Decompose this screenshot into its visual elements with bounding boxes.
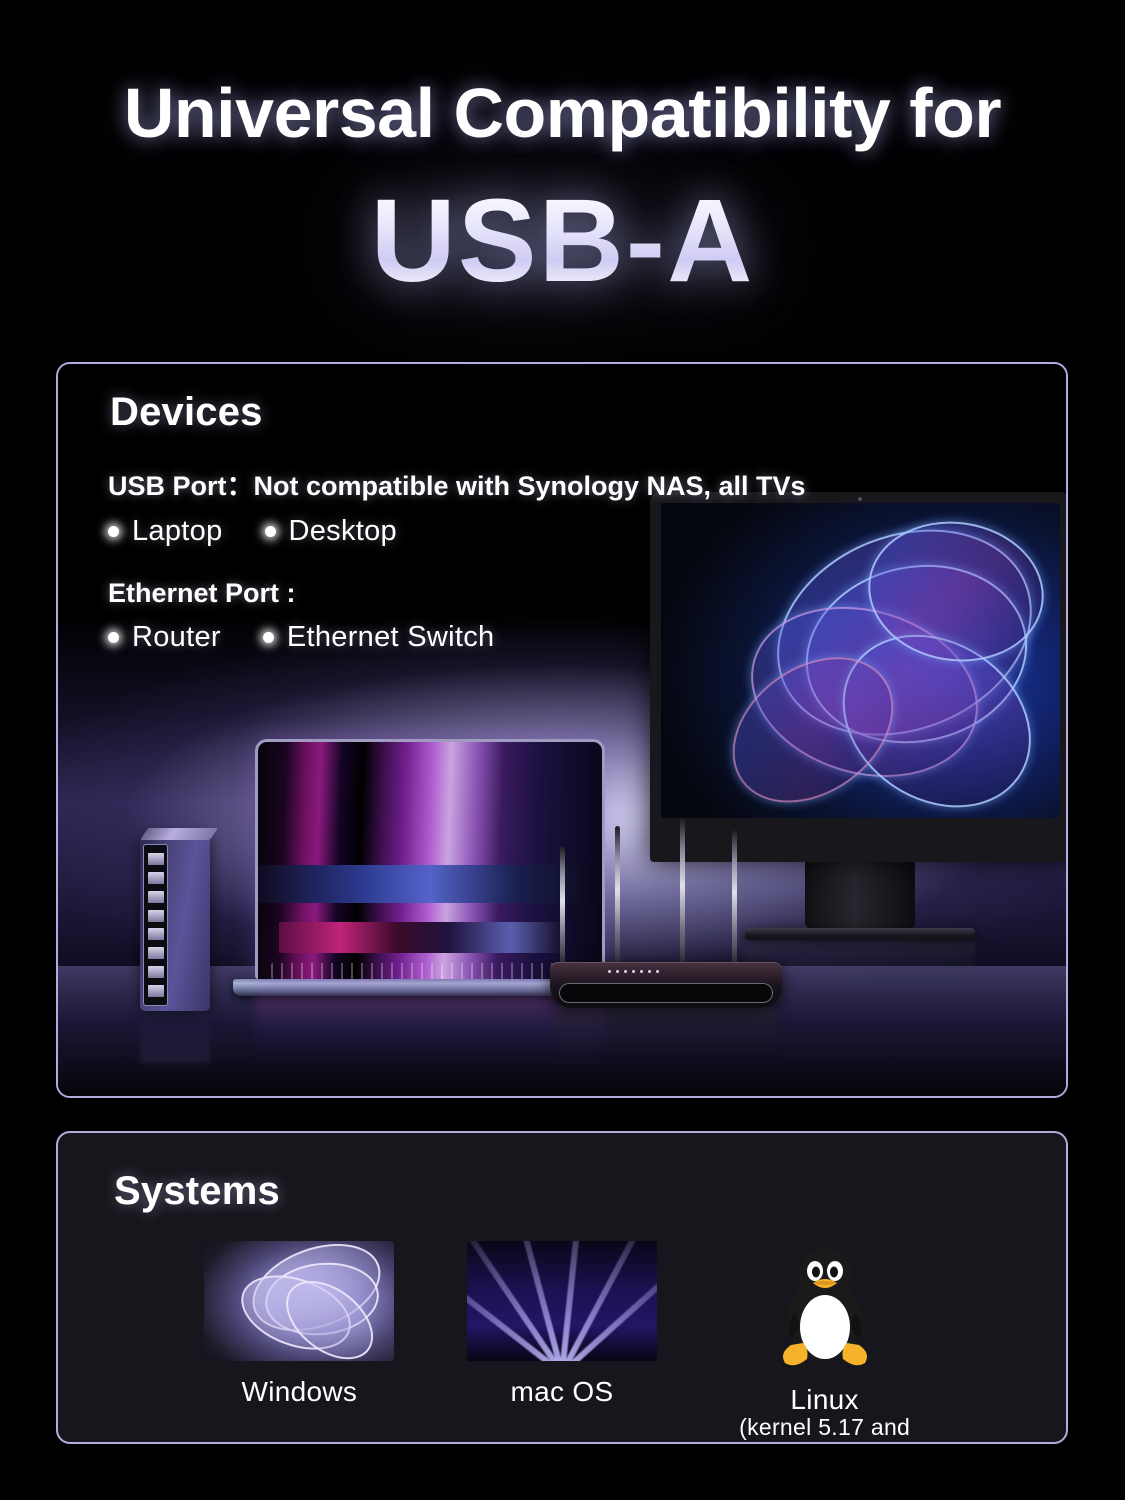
router-image (550, 962, 782, 1008)
switch-top-face (140, 828, 218, 840)
page-title-line-2: USB-A (0, 182, 1125, 300)
spacer (108, 548, 806, 578)
devices-heading: Devices (110, 390, 263, 435)
router-antenna (732, 830, 737, 968)
list-item: Ethernet Switch (263, 621, 495, 654)
devices-text-block: USB Port：Not compatible with Synology NA… (108, 464, 806, 654)
systems-list: Windows mac OS (58, 1241, 1066, 1444)
router-led-indicators (608, 970, 659, 973)
switch-port (148, 853, 164, 865)
bullet-dot-icon (265, 526, 276, 537)
ethernet-device-list: Router Ethernet Switch (108, 621, 806, 654)
monitor-stand-foot (745, 928, 975, 940)
system-label-linux: Linux (kernel 5.17 and above) (710, 1384, 940, 1444)
switch-port (148, 985, 164, 997)
systems-card: Systems Windows mac OS (56, 1131, 1068, 1444)
usb-device-label: Desktop (289, 515, 398, 548)
system-label-windows: Windows (241, 1376, 357, 1407)
ethernet-switch-image (140, 836, 210, 1011)
windows-logo-icon (204, 1241, 394, 1361)
ethernet-port-line: Ethernet Port : (108, 578, 806, 609)
router-antenna (680, 818, 685, 968)
system-label-macos: mac OS (511, 1376, 614, 1407)
usb-port-line: USB Port：Not compatible with Synology NA… (108, 464, 806, 503)
laptop-screen (255, 739, 605, 979)
bullet-dot-icon (108, 632, 119, 643)
usb-device-list: Laptop Desktop (108, 515, 806, 548)
list-item: Desktop (265, 515, 398, 548)
router-reflection (554, 1008, 778, 1056)
usb-device-label: Laptop (132, 515, 223, 548)
router-front-strip (559, 983, 773, 1003)
macos-logo-icon (467, 1241, 657, 1361)
switch-port (148, 891, 164, 903)
page-header: Universal Compatibility for USB-A (0, 0, 1125, 300)
linux-name: Linux (790, 1384, 858, 1415)
system-item-windows: Windows (184, 1241, 414, 1407)
switch-port (148, 872, 164, 884)
switch-reflection (140, 1011, 210, 1063)
switch-port (148, 966, 164, 978)
linux-tux-penguin-icon (765, 1241, 885, 1369)
list-item: Laptop (108, 515, 223, 548)
list-item: Router (108, 621, 221, 654)
router-body (550, 962, 782, 1008)
system-item-linux: Linux (kernel 5.17 and above) (710, 1241, 940, 1444)
monitor-webcam-icon (858, 497, 862, 501)
monitor-stand-neck (805, 862, 915, 928)
devices-card: Devices USB Port：Not compatible with Syn… (56, 362, 1068, 1098)
bullet-dot-icon (108, 526, 119, 537)
ethernet-device-label: Ethernet Switch (287, 621, 495, 654)
router-antenna (560, 846, 565, 968)
switch-port-panel (143, 844, 168, 1006)
switch-port (148, 947, 164, 959)
systems-heading: Systems (114, 1169, 280, 1214)
system-item-macos: mac OS (447, 1241, 677, 1407)
linux-kernel-note: (kernel 5.17 and above) (710, 1415, 940, 1444)
ethernet-device-label: Router (132, 621, 221, 654)
page-title-line-1: Universal Compatibility for (0, 78, 1125, 148)
bullet-dot-icon (263, 632, 274, 643)
switch-port (148, 928, 164, 940)
switch-port (148, 910, 164, 922)
router-antenna (615, 826, 620, 968)
